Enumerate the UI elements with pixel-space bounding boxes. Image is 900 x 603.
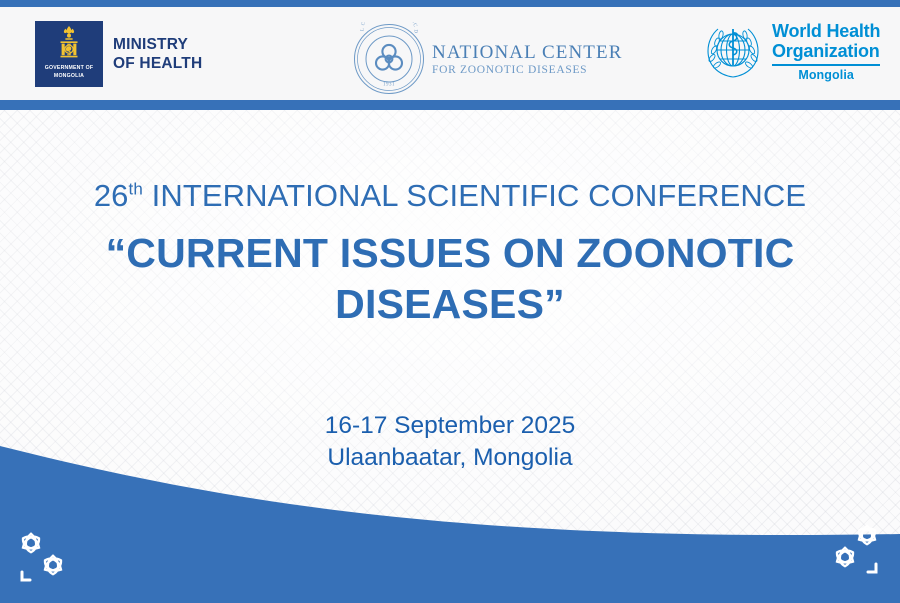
who-divider-rule <box>772 64 880 66</box>
ministry-label-line-1: MINISTRY <box>113 35 202 54</box>
who-wordmark: World Health Organization Mongolia <box>772 22 880 82</box>
header-divider-bar <box>0 100 900 110</box>
mongolia-state-emblem-icon: GOVERNMENT OF MONGOLIA <box>35 21 103 87</box>
page-title-line-1: “CURRENT ISSUES ON ZOONOTIC <box>60 228 840 279</box>
who-country-label: Mongolia <box>772 68 880 82</box>
conference-ordinal-suffix: th <box>129 180 143 199</box>
footer-wave <box>0 438 900 603</box>
ministry-label-line-2: OF HEALTH <box>113 54 202 73</box>
conference-number: 26 <box>94 178 129 213</box>
crest-line-2: MONGOLIA <box>54 73 84 80</box>
conference-title-slide: GOVERNMENT OF MONGOLIA MINISTRY OF HEALT… <box>0 0 900 603</box>
page-title: “CURRENT ISSUES ON ZOONOTIC DISEASES” <box>60 228 840 330</box>
nczd-line-2: FOR ZOONOTIC DISEASES <box>432 63 622 77</box>
conference-edition-line: 26th INTERNATIONAL SCIENTIFIC CONFERENCE <box>0 176 900 216</box>
who-name-line-1: World Health <box>772 22 880 42</box>
ornament-right <box>822 520 884 582</box>
mongolian-ulzii-knot-icon <box>822 520 884 582</box>
nczd-line-1: NATIONAL CENTER <box>432 42 622 63</box>
conference-edition-text: INTERNATIONAL SCIENTIFIC CONFERENCE <box>143 178 806 213</box>
nczd-seal-icon: NATIONAL CENTER FOR ZOONOTIC DISEASES 19… <box>352 22 426 96</box>
who-mongolia-logo: World Health Organization Mongolia <box>702 22 880 82</box>
ornament-left <box>14 528 76 590</box>
nczd-wordmark: NATIONAL CENTER FOR ZOONOTIC DISEASES <box>432 42 622 77</box>
top-accent-bar <box>0 0 900 7</box>
national-center-zoonotic-diseases-logo: NATIONAL CENTER FOR ZOONOTIC DISEASES 19… <box>352 22 622 96</box>
crest-line-1: GOVERNMENT OF <box>45 65 93 72</box>
svg-text:1931: 1931 <box>383 83 395 88</box>
ministry-of-health-logo: GOVERNMENT OF MONGOLIA MINISTRY OF HEALT… <box>35 21 202 87</box>
page-title-line-2: DISEASES” <box>60 279 840 330</box>
footer-wave-fill <box>0 446 900 603</box>
who-name-line-2: Organization <box>772 42 880 62</box>
ministry-of-health-label: MINISTRY OF HEALTH <box>113 35 202 73</box>
mongolian-ulzii-knot-icon <box>14 528 76 590</box>
who-emblem-icon <box>702 22 764 82</box>
